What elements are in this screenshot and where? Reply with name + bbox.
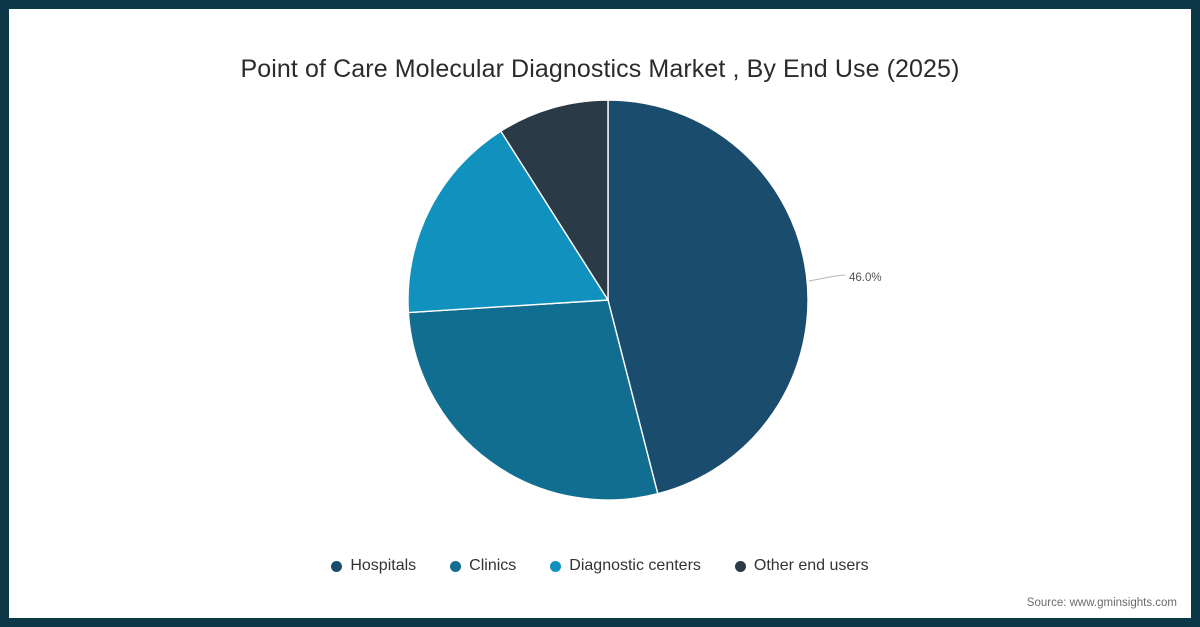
legend-item-label: Clinics [469, 557, 516, 575]
legend-item-clinics[interactable]: Clinics [450, 557, 516, 575]
leader-line-hospitals [809, 275, 845, 281]
legend-item-hospitals[interactable]: Hospitals [331, 557, 416, 575]
pie-chart-svg: 46.0% [9, 9, 1191, 618]
legend-item-other-end-users[interactable]: Other end users [735, 557, 869, 575]
chart-page: Point of Care Molecular Diagnostics Mark… [0, 0, 1200, 627]
pie-slices-group [408, 100, 808, 500]
pie-chart-area: 46.0% [9, 9, 1191, 618]
legend-item-label: Other end users [754, 557, 869, 575]
page-title: Point of Care Molecular Diagnostics Mark… [9, 55, 1191, 84]
slice-label-hospitals: 46.0% [849, 272, 882, 284]
chart-legend: HospitalsClinicsDiagnostic centersOther … [9, 557, 1191, 575]
legend-item-label: Hospitals [350, 557, 416, 575]
legend-item-diagnostic-centers[interactable]: Diagnostic centers [550, 557, 701, 575]
legend-swatch-icon [450, 561, 461, 572]
legend-swatch-icon [735, 561, 746, 572]
legend-swatch-icon [550, 561, 561, 572]
source-note: Source: www.gminsights.com [1027, 597, 1177, 609]
legend-item-label: Diagnostic centers [569, 557, 701, 575]
legend-swatch-icon [331, 561, 342, 572]
pie-leader-lines-group [809, 275, 845, 281]
